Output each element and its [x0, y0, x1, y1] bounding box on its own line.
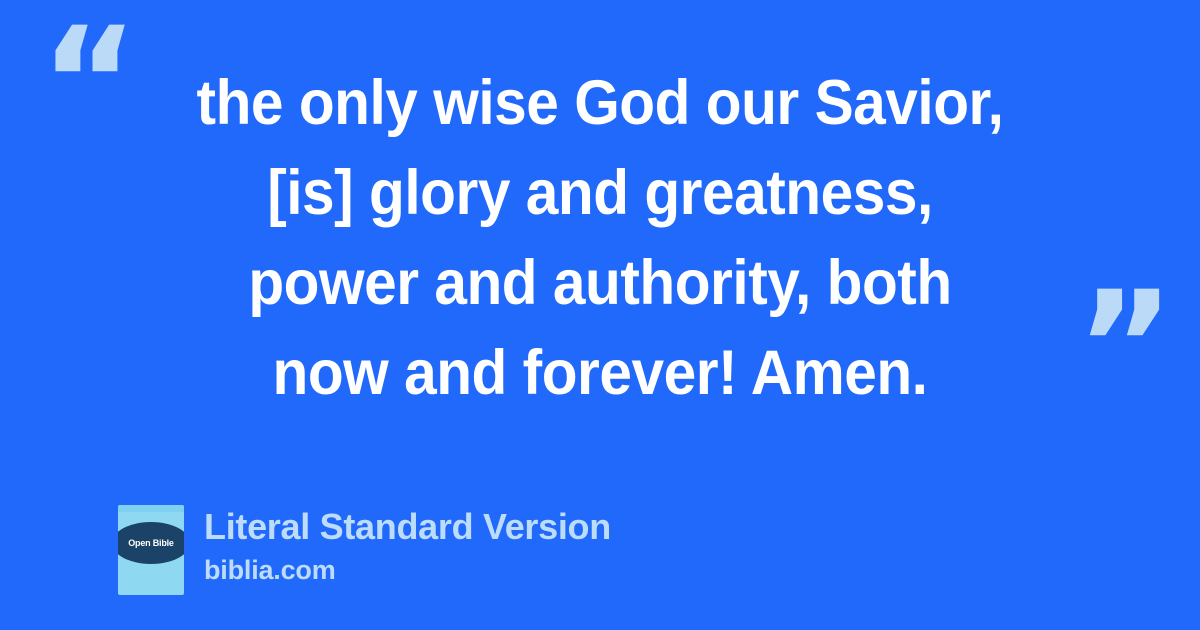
- quote-line: [is] glory and greatness,: [98, 148, 1102, 238]
- attribution-block: Open Bible Literal Standard Version bibl…: [118, 505, 611, 595]
- attribution-text-group: Literal Standard Version biblia.com: [204, 505, 611, 585]
- logo-top-strip: [118, 505, 184, 512]
- logo-band-label: Open Bible: [128, 538, 174, 548]
- open-bible-logo-icon: Open Bible: [118, 505, 184, 595]
- quote-card: “ the only wise God our Savior, [is] glo…: [0, 0, 1200, 630]
- quote-line: the only wise God our Savior,: [98, 58, 1102, 148]
- closing-quote-icon: ”: [1076, 272, 1169, 422]
- quote-line: now and forever! Amen.: [98, 328, 1102, 418]
- site-name[interactable]: biblia.com: [204, 555, 611, 585]
- bible-version-name: Literal Standard Version: [204, 507, 611, 547]
- quote-line: power and authority, both: [98, 238, 1102, 328]
- logo-band: Open Bible: [118, 522, 184, 564]
- quote-text-block: the only wise God our Savior, [is] glory…: [60, 58, 1140, 418]
